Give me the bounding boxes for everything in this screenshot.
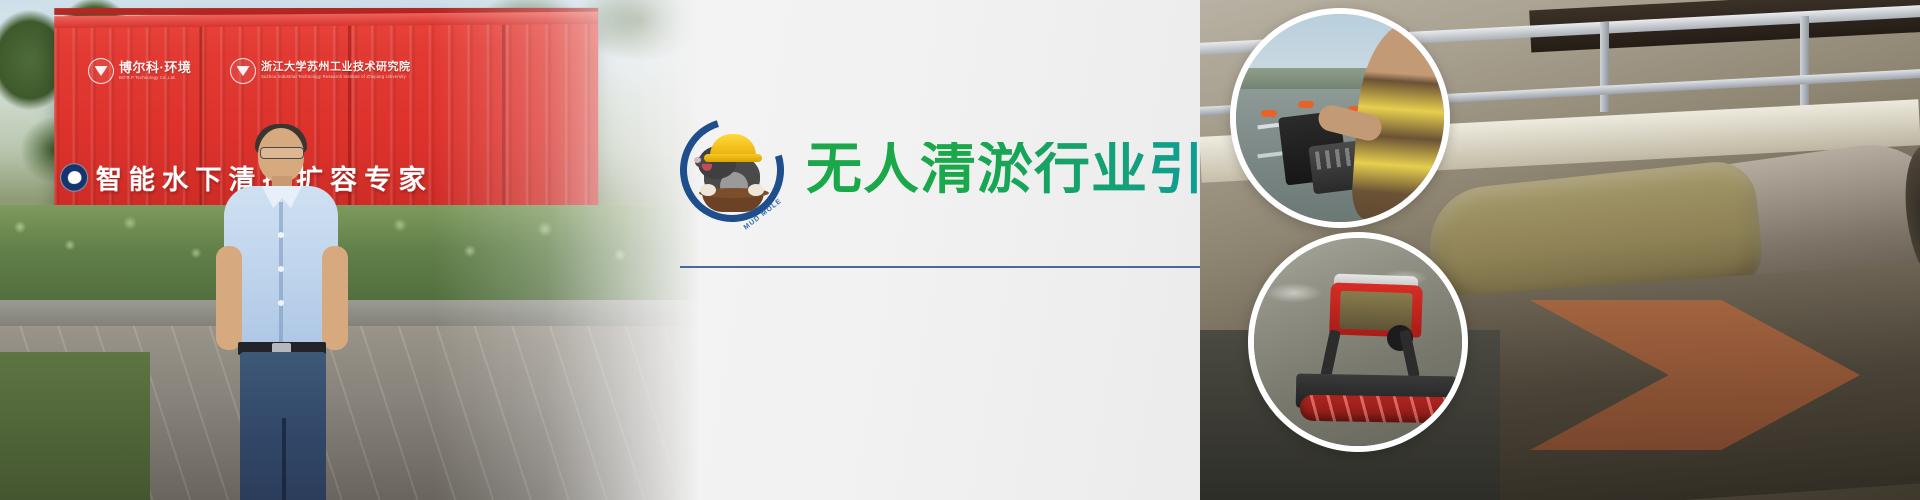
- zju-logo-cn: 浙江大学苏州工业技术研究院: [261, 62, 411, 73]
- hedge-row: [0, 205, 700, 315]
- dredging-robot-inset: [1248, 232, 1468, 452]
- mole-badge-icon: [60, 163, 88, 192]
- zju-mark-icon: [230, 58, 256, 84]
- person-shirt-button: [278, 232, 284, 238]
- person-right-arm: [322, 246, 348, 350]
- person-leg-seam: [282, 418, 286, 500]
- container-logo-row: 博尔科·环境 BO'R.P Technology Co.,Ltd. 浙江大学苏州…: [0, 58, 700, 94]
- brand-row: MUD MOLE 无人清淤行业引领者: [680, 118, 1240, 222]
- auger-screw: [1300, 395, 1456, 424]
- grass-patch: [0, 352, 150, 500]
- mud-mole-logo: MUD MOLE: [680, 118, 784, 222]
- zju-logo-en: Suzhou Industrial Technology Research In…: [261, 75, 411, 79]
- boerke-logo-cn: 博尔科·环境: [119, 61, 191, 74]
- hero-banner: 博尔科·环境 BO'R.P Technology Co.,Ltd. 浙江大学苏州…: [0, 0, 1920, 500]
- handrail-post: [1800, 16, 1809, 106]
- operator-inset: [1230, 8, 1450, 228]
- person-glasses-icon: [260, 147, 304, 159]
- right-photo-group: [1200, 0, 1920, 500]
- center-content: MUD MOLE 无人清淤行业引领者: [640, 0, 1280, 500]
- basin-float: [1261, 110, 1277, 117]
- title-divider: [680, 266, 1220, 268]
- person-left-arm: [216, 246, 242, 350]
- mole-paw-right: [748, 184, 764, 196]
- handrail-post: [1600, 22, 1609, 112]
- person-shirt-button: [278, 300, 284, 306]
- basin-float: [1298, 101, 1314, 108]
- mole-icon: [696, 132, 768, 208]
- person-portrait: [216, 128, 346, 500]
- person-shirt-placket: [279, 202, 283, 342]
- container-door-seam: [502, 12, 505, 233]
- hard-hat-brim: [704, 154, 762, 162]
- person-shirt-button: [278, 266, 284, 272]
- mole-nose: [694, 157, 701, 163]
- container-logo-boerke: 博尔科·环境 BO'R.P Technology Co.,Ltd.: [88, 58, 191, 84]
- boerke-logo-en: BO'R.P Technology Co.,Ltd.: [119, 76, 191, 80]
- left-photo: 博尔科·环境 BO'R.P Technology Co.,Ltd. 浙江大学苏州…: [0, 0, 700, 500]
- boerke-mark-icon: [88, 58, 114, 84]
- container-door-seam: [348, 14, 351, 233]
- container-logo-zju: 浙江大学苏州工业技术研究院 Suzhou Industrial Technolo…: [230, 58, 411, 84]
- mole-paw-left: [700, 184, 716, 196]
